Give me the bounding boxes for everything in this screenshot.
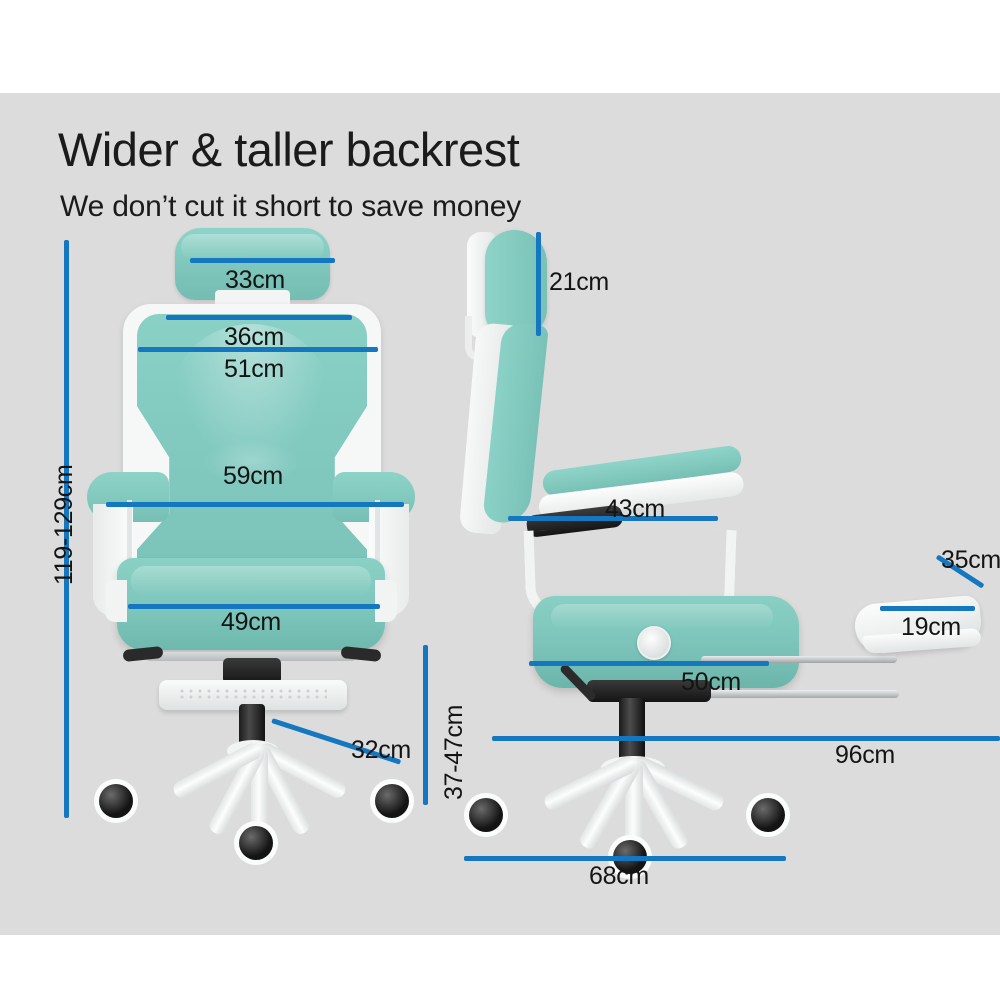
dimension-label-overall-depth: 96cm [835,741,895,770]
dimension-line-headrest-height [536,232,541,336]
side-caster-1 [469,798,503,832]
dimension-line-seat-height [423,645,428,805]
dimension-line-backrest-top-width [166,315,352,320]
dimension-label-footrest-width: 19cm [901,613,961,642]
dimension-line-seat-depth [529,661,769,666]
page-subtitle: We don’t cut it short to save money [60,192,521,222]
dimension-line-overall-depth [492,736,1000,741]
dimension-label-seat-height: 37-47cm [440,705,469,800]
dimension-label-armrest-depth: 43cm [605,495,665,524]
dimension-label-base-width: 68cm [589,862,649,891]
dimension-label-footrest-length: 35cm [941,546,1000,575]
dimension-line-backrest-mid-width [138,347,378,352]
side-caster-2 [751,798,785,832]
dimension-label-overall-height: 119-129cm [50,464,79,585]
side-tension-knob [637,626,671,660]
dimension-line-headrest-width [190,258,335,263]
dimension-label-seat-depth: 50cm [681,668,741,697]
side-gas-cylinder [619,698,645,764]
front-caster-3 [239,826,273,860]
dimension-label-base-radius: 32cm [351,736,411,765]
front-caster-2 [375,784,409,818]
dimension-line-footrest-width [880,606,975,611]
page-title: Wider & taller backrest [58,126,519,173]
dimension-label-armrest-outer-width: 59cm [223,462,283,491]
front-caster-1 [99,784,133,818]
dimension-line-base-width [464,856,786,861]
front-footrest-perforation [179,688,327,700]
dimension-line-armrest-outer-width [106,502,404,507]
dimension-label-headrest-width: 33cm [225,266,285,295]
dimension-label-seat-width: 49cm [221,608,281,637]
dimension-label-backrest-mid-width: 51cm [224,355,284,384]
front-seat-edge-left [105,580,127,622]
product-dimension-diagram: Wider & taller backrest We don’t cut it … [0,0,1000,1000]
front-seat-edge-right [375,580,397,622]
dimension-label-headrest-height: 21cm [549,268,609,297]
